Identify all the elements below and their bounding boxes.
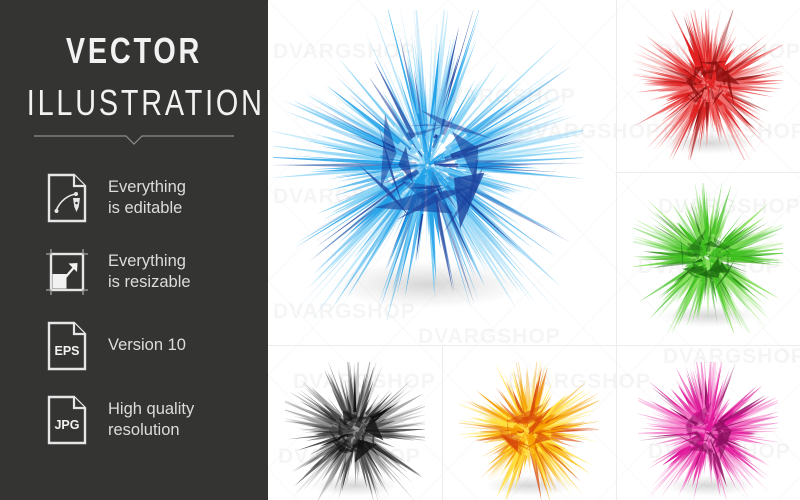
feature-label-line2: is resizable <box>108 273 191 291</box>
illustration-preview-banner: VECTOR ILLUSTRATION <box>0 0 800 500</box>
feature-item-resizable: Everything is resizable <box>44 239 259 305</box>
feature-label-line2: is editable <box>108 199 182 217</box>
eps-file-icon: EPS <box>44 320 90 372</box>
feature-label-line1: Everything <box>108 252 186 270</box>
grid-divider-vertical <box>616 345 617 500</box>
feature-item-label: Version 10 <box>108 335 186 356</box>
jpg-file-icon: JPG <box>44 394 90 446</box>
magenta-star-burst <box>638 362 778 500</box>
green-star-burst <box>633 183 783 333</box>
page-title-secondary: ILLUSTRATION <box>27 82 241 124</box>
title-block: VECTOR ILLUSTRATION <box>0 30 268 124</box>
artwork-showcase-panel: DVARGSHOPDVARGSHOPDVARGSHOPDVARGSHOPDVAR… <box>268 0 800 500</box>
grid-divider-horizontal <box>268 345 800 346</box>
feature-item-label: Everything is resizable <box>108 251 191 293</box>
eps-icon-label: EPS <box>54 344 79 358</box>
document-pen-tool-icon <box>44 172 90 224</box>
jpg-icon-label: JPG <box>54 418 79 432</box>
black-star-burst <box>285 362 425 500</box>
feature-item-label: High quality resolution <box>108 399 194 441</box>
feature-item-label: Everything is editable <box>108 177 186 219</box>
divider-with-chevron-notch-icon <box>34 132 234 146</box>
feature-label-line2: resolution <box>108 421 180 439</box>
grid-divider-horizontal <box>616 172 800 173</box>
feature-item-version: EPS Version 10 <box>44 313 259 379</box>
grid-divider-vertical <box>442 345 443 500</box>
feature-label-line1: High quality <box>108 400 194 418</box>
feature-list: Everything is editable <box>44 165 259 461</box>
feature-label-line1: Everything <box>108 178 186 196</box>
feature-item-editable: Everything is editable <box>44 165 259 231</box>
blue-star-burst-large <box>273 10 583 320</box>
sidebar-panel: VECTOR ILLUSTRATION <box>0 0 268 500</box>
feature-item-resolution: JPG High quality resolution <box>44 387 259 453</box>
red-star-burst <box>633 10 783 160</box>
resize-arrow-icon <box>44 246 90 298</box>
orange-star-burst <box>459 362 599 500</box>
feature-label-line1: Version 10 <box>108 336 186 354</box>
page-title-primary: VECTOR <box>27 30 241 72</box>
